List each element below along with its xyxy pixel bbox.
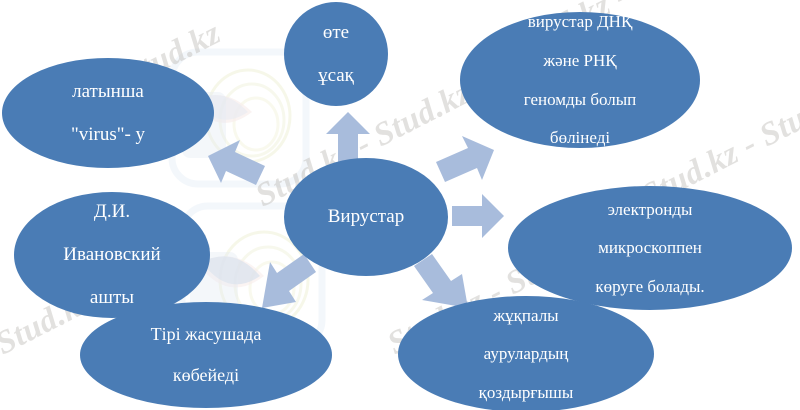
node-label: Д.И.Ивановскийашты [24, 201, 200, 309]
node-dna-rna-genome[interactable]: вирустар ДНҚжәне РНҚгеномды болыпбөлінед… [460, 12, 700, 148]
node-label: өтеұсақ [294, 22, 378, 87]
node-label: латынша"virus"- у [12, 81, 204, 146]
node-label: электрондымикроскоппенкөруге болады. [518, 200, 782, 297]
arrow-up-left-icon [208, 140, 268, 200]
arrow-up-icon [326, 112, 370, 164]
node-electron-microscope[interactable]: электрондымикроскоппенкөруге болады. [508, 186, 792, 310]
node-very-small[interactable]: өтеұсақ [284, 2, 388, 106]
node-label: Вирустар [294, 206, 438, 228]
node-center-viruses[interactable]: Вирустар [284, 158, 448, 276]
node-reproduce-in-living-cell[interactable]: Тірі жасушадакөбейеді [80, 302, 332, 408]
node-ivanovsky-discovery[interactable]: Д.И.Ивановскийашты [14, 192, 210, 318]
node-label: жұқпалыаурулардыңқоздырғышы [408, 306, 644, 403]
node-label: Тірі жасушадакөбейеді [90, 324, 322, 386]
node-label: вирустар ДНҚжәне РНҚгеномды болыпбөлінед… [470, 12, 690, 148]
node-infectious-disease-agent[interactable]: жұқпалыаурулардыңқоздырғышы [398, 296, 654, 410]
arrow-right-icon [452, 194, 504, 238]
node-latin-origin[interactable]: латынша"virus"- у [2, 58, 214, 168]
concept-map-diagram: Stud.kz - Stud.kz Stud.kz - Stud.kz Stud… [0, 0, 800, 410]
